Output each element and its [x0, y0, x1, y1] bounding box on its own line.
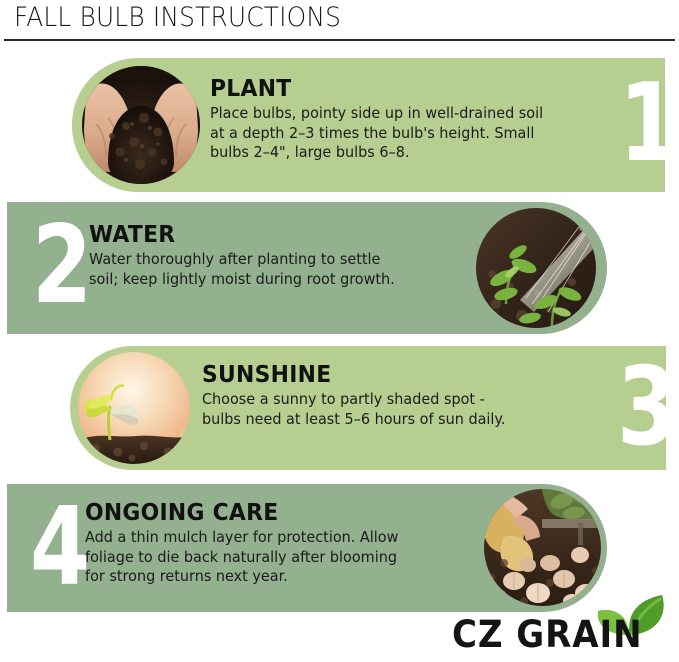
- step-3-title: SUNSHINE: [202, 362, 582, 388]
- step-4-body: Add a thin mulch layer for protection. A…: [85, 528, 469, 587]
- step-1-text: PLANT Place bulbs, pointy side up in wel…: [210, 76, 630, 163]
- step-4-number: 4: [30, 494, 86, 602]
- step-2-number: 2: [32, 212, 88, 320]
- step-1-body: Place bulbs, pointy side up in well-drai…: [210, 104, 613, 163]
- page-title: FALL BULB INSTRUCTIONS: [14, 2, 341, 33]
- step-3-body-line-2: bulbs need at least 5–6 hours of sun dai…: [202, 410, 586, 430]
- step-2-body-line-1: Water thoroughly after planting to settl…: [89, 250, 463, 270]
- step-1-body-line-1: Place bulbs, pointy side up in well-drai…: [210, 104, 613, 124]
- step-2-body-line-2: soil; keep lightly moist during root gro…: [89, 270, 463, 290]
- step-3-number: 3: [617, 354, 673, 462]
- step-3-body: Choose a sunny to partly shaded spot - b…: [202, 390, 586, 429]
- step-1-body-line-3: bulbs 2–4", large bulbs 6–8.: [210, 143, 613, 163]
- step-2-body: Water thoroughly after planting to settl…: [89, 250, 463, 289]
- page-header: FALL BULB INSTRUCTIONS: [0, 0, 679, 42]
- step-card-2: 2 WATER Water thoroughly after planting …: [7, 202, 607, 334]
- brand-name: CZ GRAIN: [452, 613, 643, 656]
- seedling-in-sunlight-photo: [78, 352, 190, 464]
- planting-bulbs-photo: [484, 489, 601, 606]
- hands-holding-soil-photo: [82, 66, 200, 184]
- watering-seedlings-photo: [476, 208, 596, 328]
- title-divider: [4, 39, 675, 41]
- brand-logo: CZ GRAIN: [452, 606, 674, 658]
- step-card-4: 4 ONGOING CARE Add a thin mulch layer fo…: [7, 484, 607, 612]
- step-3-text: SUNSHINE Choose a sunny to partly shaded…: [202, 362, 602, 429]
- step-1-title: PLANT: [210, 76, 609, 102]
- step-4-body-line-3: for strong returns next year.: [85, 567, 469, 587]
- step-2-text: WATER Water thoroughly after planting to…: [89, 222, 479, 289]
- step-1-number: 1: [619, 70, 675, 178]
- step-2-title: WATER: [89, 222, 460, 248]
- step-4-body-line-1: Add a thin mulch layer for protection. A…: [85, 528, 469, 548]
- step-4-title: ONGOING CARE: [85, 500, 465, 526]
- step-1-body-line-2: at a depth 2–3 times the bulb's height. …: [210, 124, 613, 144]
- step-4-text: ONGOING CARE Add a thin mulch layer for …: [85, 500, 485, 587]
- step-4-body-line-2: foliage to die back naturally after bloo…: [85, 548, 469, 568]
- step-card-1: PLANT Place bulbs, pointy side up in wel…: [72, 58, 665, 192]
- step-card-3: SUNSHINE Choose a sunny to partly shaded…: [70, 346, 666, 470]
- step-3-body-line-1: Choose a sunny to partly shaded spot -: [202, 390, 586, 410]
